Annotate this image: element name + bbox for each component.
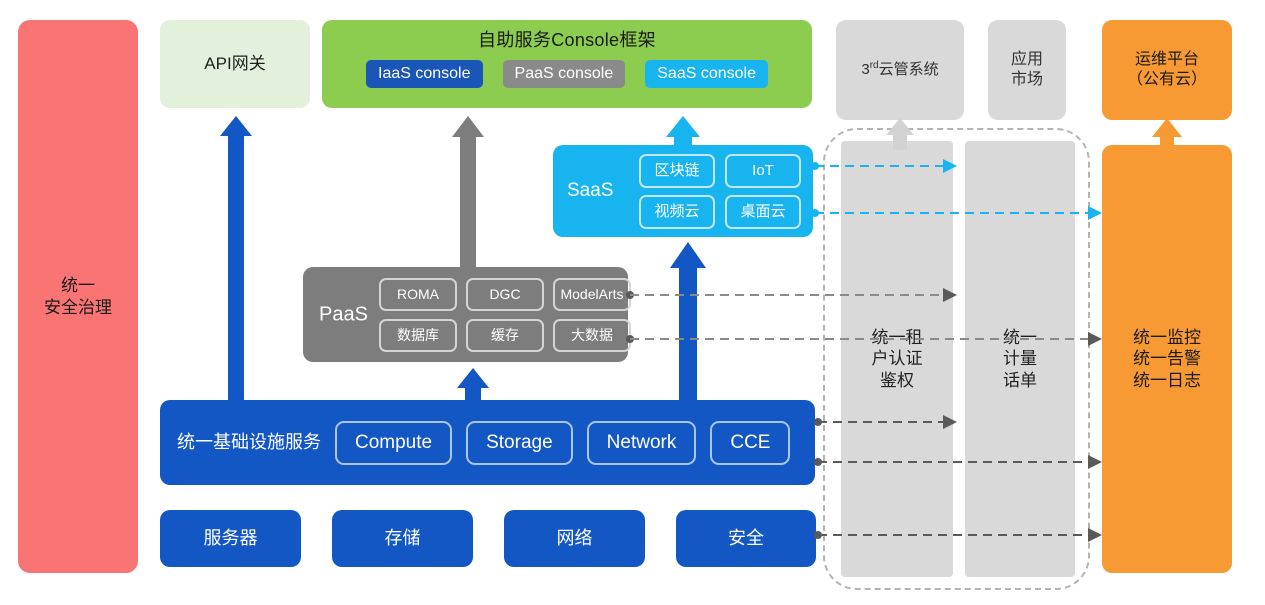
security-governance-line2: 安全治理 [44, 297, 112, 318]
hardware-server-label: 服务器 [204, 527, 258, 550]
app-market-line2: 市场 [1011, 70, 1043, 90]
arrow-infra-to-saas [670, 242, 706, 400]
security-governance-panel: 统一 安全治理 [18, 20, 138, 573]
hardware-security-box[interactable]: 安全 [676, 510, 816, 567]
app-market-line1: 应用 [1011, 50, 1043, 70]
paas-service-cache[interactable]: 缓存 [466, 319, 544, 352]
console-chip-iaas[interactable]: IaaS console [366, 60, 483, 88]
ops-platform-line2: 统一告警 [1133, 348, 1201, 369]
infrastructure-services-box: 统一基础设施服务 Compute Storage Network CCE [160, 400, 815, 485]
console-framework-box: 自助服务Console框架 IaaS console PaaS console … [322, 20, 812, 108]
infra-service-cce[interactable]: CCE [710, 421, 790, 465]
arrow-paas-to-console [452, 116, 484, 267]
paas-service-modelarts[interactable]: ModelArts [553, 278, 631, 311]
hardware-storage-box[interactable]: 存储 [332, 510, 473, 567]
third-party-cloud-mgmt-label: 3rd云管系统 [861, 60, 938, 80]
unified-metering-line3: 话单 [1003, 370, 1037, 391]
unified-tenant-auth-column: 统一租 户认证 鉴权 [841, 141, 953, 577]
unified-tenant-auth-line2: 户认证 [872, 348, 923, 369]
saas-service-iot[interactable]: IoT [725, 154, 801, 188]
hardware-network-label: 网络 [557, 527, 593, 550]
paas-service-grid: ROMA DGC ModelArts 数据库 缓存 大数据 [379, 278, 631, 352]
arrow-infra-to-paas [457, 368, 489, 400]
unified-metering-line2: 计量 [1003, 348, 1037, 369]
saas-service-grid: 区块链 IoT 视频云 桌面云 [639, 154, 801, 229]
infra-service-storage[interactable]: Storage [466, 421, 573, 465]
arrow-infra-to-api-gateway [220, 116, 252, 400]
unified-tenant-auth-line1: 统一租 [872, 327, 923, 348]
unified-metering-column: 统一 计量 话单 [965, 141, 1075, 577]
saas-layer-label: SaaS [567, 179, 613, 203]
arrow-saas-to-console [666, 116, 700, 145]
paas-service-roma[interactable]: ROMA [379, 278, 457, 311]
ops-platform-public-cloud-line1: 运维平台 [1127, 50, 1207, 70]
unified-tenant-auth-line3: 鉴权 [872, 370, 923, 391]
ops-platform-line3: 统一日志 [1133, 370, 1201, 391]
api-gateway-box: API网关 [160, 20, 310, 108]
unified-metering-line1: 统一 [1003, 327, 1037, 348]
saas-service-video-cloud[interactable]: 视频云 [639, 195, 715, 229]
infrastructure-services-label: 统一基础设施服务 [177, 431, 321, 454]
api-gateway-label: API网关 [204, 53, 265, 74]
saas-service-desktop-cloud[interactable]: 桌面云 [725, 195, 801, 229]
saas-layer-box: SaaS 区块链 IoT 视频云 桌面云 [553, 145, 813, 237]
infra-service-network[interactable]: Network [587, 421, 697, 465]
console-chip-group: IaaS console PaaS console SaaS console [322, 60, 812, 88]
ops-platform-public-cloud-line2: （公有云） [1127, 70, 1207, 90]
paas-layer-label: PaaS [319, 302, 368, 327]
hardware-server-box[interactable]: 服务器 [160, 510, 301, 567]
ops-platform-line1: 统一监控 [1133, 327, 1201, 348]
hardware-security-label: 安全 [728, 527, 764, 550]
security-governance-line1: 统一 [44, 275, 112, 296]
paas-service-database[interactable]: 数据库 [379, 319, 457, 352]
console-chip-paas[interactable]: PaaS console [503, 60, 626, 88]
paas-layer-box: PaaS ROMA DGC ModelArts 数据库 缓存 大数据 [303, 267, 628, 362]
infra-service-compute[interactable]: Compute [335, 421, 452, 465]
paas-service-bigdata[interactable]: 大数据 [553, 319, 631, 352]
app-market-box: 应用 市场 [988, 20, 1066, 120]
console-chip-saas[interactable]: SaaS console [645, 60, 768, 88]
paas-service-dgc[interactable]: DGC [466, 278, 544, 311]
hardware-network-box[interactable]: 网络 [504, 510, 645, 567]
saas-service-blockchain[interactable]: 区块链 [639, 154, 715, 188]
hardware-storage-label: 存储 [385, 527, 421, 550]
ops-platform-public-cloud-box: 运维平台 （公有云） [1102, 20, 1232, 120]
console-framework-title: 自助服务Console框架 [322, 20, 812, 52]
arrow-ops-platform-up [1152, 118, 1182, 148]
ops-platform-panel: 统一监控 统一告警 统一日志 [1102, 145, 1232, 573]
third-party-cloud-mgmt-box: 3rd云管系统 [836, 20, 964, 120]
